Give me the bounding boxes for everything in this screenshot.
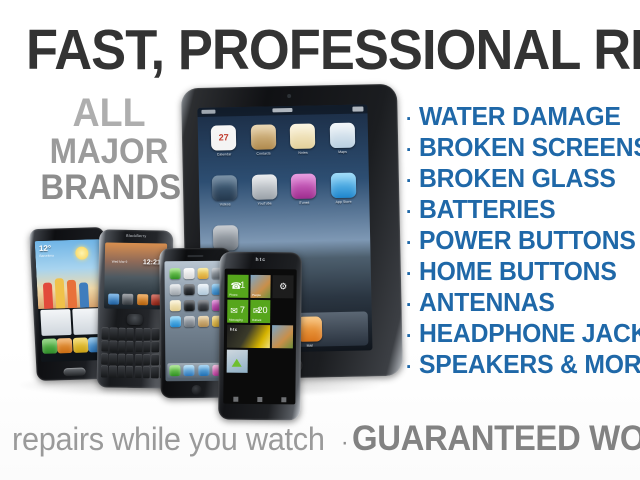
calendar-icon: 27: [211, 125, 237, 151]
ipad-app-icon[interactable]: YouTube: [244, 174, 284, 206]
htc-nav-bar: [223, 397, 295, 403]
ipad-app-icon[interactable]: iTunes: [284, 173, 324, 205]
footer-tagline: repairs while you watch·GUARANTEED WORK: [12, 419, 628, 465]
calendar-icon[interactable]: [183, 268, 194, 279]
ipad-app-icon[interactable]: 27Calendar: [204, 125, 244, 157]
bullet-icon: ·: [406, 290, 412, 321]
windows-home-icon[interactable]: [257, 397, 262, 402]
app-label: Maps: [338, 150, 347, 154]
photo-figure: [79, 282, 89, 307]
torch-app-tray: [106, 292, 164, 306]
tile-phone[interactable]: ☎ 1 Phone: [227, 275, 248, 298]
phone-icon[interactable]: [42, 338, 58, 353]
ipad-app-icon[interactable]: Maps: [322, 123, 362, 155]
messages-icon[interactable]: [72, 337, 88, 352]
device-cluster-photo: 27Calendar Contacts Notes Maps Videos Yo…: [0, 80, 400, 405]
app-label: Notes: [298, 151, 307, 155]
tagline-soft: repairs while you watch: [12, 421, 325, 458]
itunes-icon: [291, 173, 317, 199]
back-icon[interactable]: [233, 397, 238, 402]
app-label: iTunes: [299, 201, 310, 205]
list-item: ·ANTENNAS: [406, 287, 636, 318]
date-label: Wed Mar 9: [112, 260, 128, 264]
clock-icon[interactable]: [183, 300, 194, 311]
galaxy-home-button[interactable]: [63, 368, 85, 377]
list-item: ·BROKEN SCREENS: [406, 132, 636, 163]
service-label: WATER DAMAGE: [419, 101, 621, 132]
maps-icon[interactable]: [197, 284, 208, 295]
tagline-strong: GUARANTEED WORK: [352, 419, 640, 459]
temperature-value: 12°: [39, 244, 52, 253]
calculator-icon[interactable]: [197, 300, 208, 311]
up-arrow-icon: [232, 359, 242, 367]
tile-label: htc: [230, 327, 238, 332]
earpiece-speaker-icon: [187, 255, 203, 257]
bullet-icon: ·: [406, 321, 412, 352]
galaxy-app-tray: [42, 337, 104, 359]
tile-label: Outlook: [252, 318, 262, 322]
ipad-camera-icon: [287, 94, 291, 98]
list-item: ·BROKEN GLASS: [406, 163, 636, 194]
windows-phone-tiles: ☎ 1 Phone People ⚙ ✉ 7 Messaging: [227, 275, 294, 374]
message-icon: ✉: [230, 306, 238, 317]
phone-icon[interactable]: [169, 365, 180, 376]
photos-icon[interactable]: [197, 268, 208, 279]
bullet-icon: ·: [406, 228, 412, 259]
service-label: HEADPHONE JACKS: [419, 318, 640, 349]
service-label: HOME BUTTONS: [419, 256, 617, 287]
photo-figure: [43, 282, 53, 308]
bullet-icon: ·: [406, 259, 412, 290]
phone-htc-windows: htc 12:18 ☎ 1 Phone People ⚙: [218, 252, 302, 421]
list-item: ·HEADPHONE JACKS: [406, 318, 636, 349]
iphone-dock: [167, 363, 225, 379]
youtube-icon: [252, 174, 278, 200]
bullet-icon: ·: [406, 197, 412, 228]
galaxy-screen: 12° Barcelona: [35, 239, 106, 362]
tile-pictures[interactable]: [272, 325, 293, 348]
app-store-icon[interactable]: [169, 316, 180, 327]
service-label: POWER BUTTONS: [419, 225, 636, 256]
messages-icon[interactable]: [169, 268, 180, 279]
bullet-icon: ·: [406, 104, 412, 135]
app-store-icon: [331, 173, 357, 199]
tile-messaging[interactable]: ✉ 7 Messaging: [227, 300, 248, 323]
galaxy-widget-row: [40, 308, 102, 336]
tile-market[interactable]: [227, 350, 248, 373]
mail-icon[interactable]: [184, 365, 195, 376]
gear-icon: ⚙: [279, 281, 287, 292]
maps-icon: [329, 123, 355, 149]
bullet-icon: ·: [406, 135, 412, 166]
list-item: ·WATER DAMAGE: [406, 101, 636, 132]
weather-widget: 12° Barcelona: [35, 239, 104, 309]
app-label: App Store: [336, 200, 352, 204]
ipad-app-icon[interactable]: Contacts: [243, 124, 283, 156]
app-label: Videos: [220, 202, 231, 206]
service-label: BATTERIES: [419, 194, 555, 225]
service-label: BROKEN GLASS: [419, 163, 616, 194]
notes-icon: [290, 123, 316, 149]
torch-trackpad[interactable]: [127, 314, 143, 325]
service-label: SPEAKERS & MORE!: [419, 349, 640, 380]
app-label: Calendar: [217, 152, 232, 156]
iphone-app-grid: [168, 268, 225, 327]
bullet-icon: ·: [406, 166, 412, 197]
search-icon[interactable]: [281, 397, 286, 402]
tagline-separator: ·: [341, 429, 349, 456]
tile-label: Messaging: [229, 318, 243, 322]
list-item: ·SPEAKERS & MORE!: [406, 349, 636, 380]
ipad-app-icon[interactable]: App Store: [323, 173, 363, 205]
htc-brand-label: htc: [256, 257, 267, 263]
browser-icon[interactable]: [122, 294, 133, 305]
htc-screen: 12:18 ☎ 1 Phone People ⚙ ✉ 7: [223, 269, 296, 405]
app-label: Contacts: [256, 151, 270, 155]
repair-promo-banner: FAST, PROFESSIONAL REPAIRS ALL MAJOR BRA…: [0, 0, 640, 480]
photo-figure: [67, 280, 77, 308]
sun-icon: [75, 246, 89, 259]
safari-icon[interactable]: [198, 365, 209, 376]
tile-outlook[interactable]: ✉ 20 Outlook: [250, 300, 271, 323]
service-label: BROKEN SCREENS: [419, 132, 640, 163]
clock-label: 12:21: [143, 259, 161, 266]
notes-icon[interactable]: [169, 300, 180, 311]
tile-label: People: [252, 293, 261, 297]
youtube-icon[interactable]: [169, 284, 180, 295]
app-label: Mail: [307, 344, 314, 348]
settings-icon[interactable]: [183, 316, 194, 327]
list-item: ·HOME BUTTONS: [406, 256, 636, 287]
tile-count: 7: [240, 306, 245, 315]
tile-count: 1: [240, 281, 245, 290]
stocks-icon[interactable]: [183, 284, 194, 295]
contacts-icon[interactable]: [197, 316, 208, 327]
city-label: Barcelona: [39, 254, 54, 258]
services-list: ·WATER DAMAGE ·BROKEN SCREENS ·BROKEN GL…: [406, 101, 636, 380]
list-item: ·BATTERIES: [406, 194, 636, 225]
ipad-app-icon[interactable]: Videos: [205, 175, 245, 207]
tile-count: 20: [258, 306, 268, 315]
tile-htc-hub[interactable]: htc: [227, 325, 271, 348]
iphone-home-button[interactable]: [192, 385, 202, 395]
blackberry-brand-label: BlackBerry: [126, 234, 146, 238]
media-icon[interactable]: [137, 294, 148, 305]
tile-people[interactable]: People: [250, 275, 271, 298]
torch-screen: Wed Mar 9 12:21: [104, 242, 167, 309]
messages-icon[interactable]: [108, 294, 119, 305]
torch-qwerty-keyboard[interactable]: [101, 327, 168, 378]
app-label: YouTube: [258, 201, 272, 205]
tile-label: Phone: [229, 293, 237, 297]
photo-figure: [55, 278, 66, 308]
list-item: ·POWER BUTTONS: [406, 225, 636, 256]
ipad-app-icon[interactable]: Notes: [283, 123, 323, 155]
bullet-icon: ·: [406, 352, 412, 383]
contacts-icon[interactable]: [57, 338, 73, 353]
page-title: FAST, PROFESSIONAL REPAIRS: [26, 22, 571, 78]
contacts-icon: [250, 124, 276, 150]
widget-card[interactable]: [40, 309, 71, 336]
ipad-app-grid: 27Calendar Contacts Notes Maps Videos Yo…: [204, 123, 365, 257]
tile-settings[interactable]: ⚙: [273, 275, 294, 298]
videos-icon: [212, 175, 238, 201]
service-label: ANTENNAS: [419, 287, 555, 318]
